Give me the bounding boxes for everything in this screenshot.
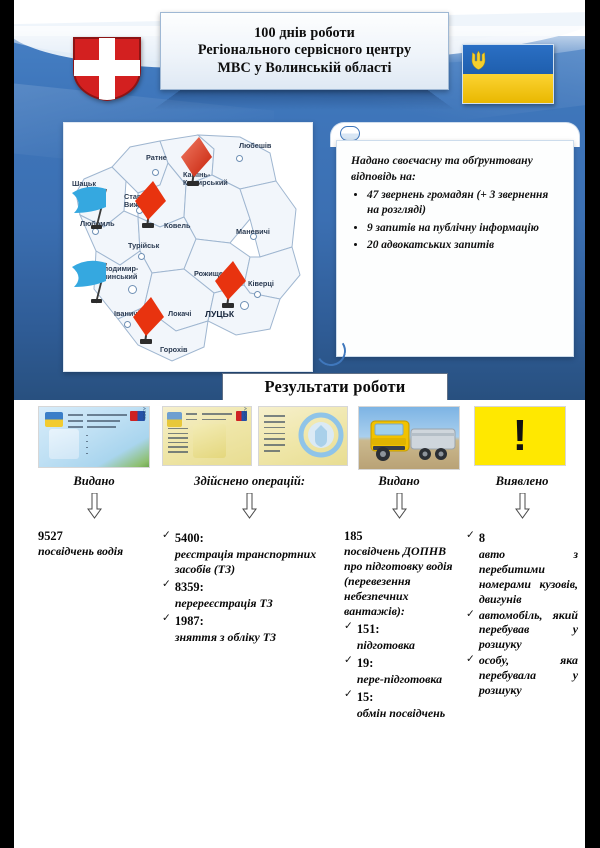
map-marker-red-kamin-kashyrskyi[interactable] — [168, 131, 214, 193]
ukraine-flag-icon — [462, 44, 554, 104]
driver-license-card-icon: ЗРАЗОК — [38, 406, 150, 468]
column-4-item-0-number: 8 — [479, 531, 485, 545]
column-2-item-1-number: 8359: — [175, 580, 204, 594]
slide-title-plate: 100 днів роботи Регіонального сервісного… — [160, 12, 449, 90]
title-line-2: Регіонального сервісного центру — [198, 42, 411, 59]
list-item: 9 запитів на публічну інформацію — [367, 221, 563, 237]
column-3-item-1-number: 19: — [357, 656, 374, 670]
checkmark-icon: ✓ — [344, 620, 353, 633]
map-label-manevychi: Маневичі — [236, 227, 270, 236]
list-item: ✓ 19: пере-підготовка — [344, 654, 454, 687]
column-3-number: 185 — [344, 529, 454, 544]
column-2-item-0-number: 5400: — [175, 531, 204, 545]
list-item: ✓ 8359: перереєстрація ТЗ — [162, 578, 337, 611]
vehicle-registration-card-front-icon: ЗРАЗОК — [162, 406, 252, 466]
down-arrow-icon — [87, 493, 102, 519]
column-2-header: Здійснено операцій: — [162, 474, 337, 489]
results-column-4: Виявлено ✓ 8 авто з перебитими номерами … — [466, 474, 578, 699]
column-3-item-0-text: підготовка — [357, 638, 454, 653]
column-1-number: 9527 — [38, 529, 150, 544]
results-column-1: Видано 9527 посвідчень водія — [38, 474, 150, 559]
column-4-item-0-text: авто з перебитими номерами кузовів, двиг… — [479, 547, 578, 607]
column-2-item-2-number: 1987: — [175, 614, 204, 628]
list-item: ✓ 15: обмін посвідчень — [344, 688, 454, 721]
checkmark-icon: ✓ — [162, 529, 171, 542]
checkmark-icon: ✓ — [466, 608, 475, 621]
column-3-header: Видано — [344, 474, 454, 489]
checkmark-icon: ✓ — [466, 653, 475, 666]
map-marker-blue-lyuboml[interactable] — [66, 179, 116, 235]
column-3-item-0-number: 151: — [357, 622, 380, 636]
volyn-coat-of-arms-icon — [72, 36, 142, 102]
column-2-item-1-text: перереєстрація ТЗ — [175, 596, 337, 611]
checkmark-icon: ✓ — [162, 612, 171, 625]
ua-badge-icon — [45, 412, 64, 428]
info-bubble: Надано своєчасну та обґрунтовану відпові… — [336, 140, 574, 357]
title-line-1: 100 днів роботи — [198, 25, 411, 42]
map-marker-red-kovel[interactable] — [124, 175, 168, 235]
map-label-turiysk: Турійськ — [128, 241, 159, 250]
column-2-item-0-text: реєстрація транспортних засобів (ТЗ) — [175, 547, 337, 577]
checkmark-icon: ✓ — [466, 529, 475, 542]
checkmark-icon: ✓ — [344, 688, 353, 701]
info-bubble-list: 47 звернень громадян (+ 3 звернення на р… — [351, 188, 563, 254]
results-banner: Результати роботи — [222, 373, 448, 401]
down-arrow-icon — [515, 493, 530, 519]
column-3-text: посвідчень ДОПНВ про підготовку водія (п… — [344, 544, 454, 618]
map-marker-blue-volodymyr[interactable] — [66, 253, 116, 309]
checkmark-icon: ✓ — [162, 578, 171, 591]
vehicle-registration-card-back-icon — [258, 406, 348, 466]
column-2-item-2-text: зняття з обліку ТЗ — [175, 630, 337, 645]
tryzub-icon — [470, 50, 487, 70]
list-item: ✓ особу, яка перебувала у розшуку — [466, 653, 578, 698]
column-3-item-2-number: 15: — [357, 690, 374, 704]
presentation-slide: 100 днів роботи Регіонального сервісного… — [0, 0, 600, 848]
city-dot-lyubeshiv — [236, 155, 243, 162]
column-4-item-1-text: автомобіль, який перебував у розшуку — [479, 608, 578, 653]
list-item: 47 звернень громадян (+ 3 звернення на р… — [367, 188, 563, 219]
warning-exclamation-sign-icon: ! — [474, 406, 566, 466]
column-3-item-1-text: пере-підготовка — [357, 672, 454, 687]
city-dot-turiysk — [138, 253, 145, 260]
card-sample-text: ЗРАЗОК — [142, 406, 147, 420]
map-marker-red-horokhiv[interactable] — [122, 291, 166, 351]
list-item: ✓ автомобіль, який перебував у розшуку — [466, 608, 578, 653]
down-arrow-icon — [242, 493, 257, 519]
map-label-lyubeshiv: Любешів — [239, 141, 271, 150]
list-item: ✓ 1987: зняття з обліку ТЗ — [162, 612, 337, 645]
column-4-item-2-text: особу, яка перебувала у розшуку — [479, 653, 578, 698]
list-item: ✓ 5400: реєстрація транспортних засобів … — [162, 529, 337, 577]
column-1-text: посвідчень водія — [38, 544, 150, 559]
results-thumbnail-row: ЗРАЗОК ЗРАЗОК — [14, 406, 585, 472]
cargo-truck-icon — [358, 406, 460, 470]
title-line-3: МВС у Волинській області — [198, 60, 411, 77]
column-3-item-2-text: обмін посвідчень — [357, 706, 454, 721]
info-bubble-lead: Надано своєчасну та обґрунтовану відпові… — [351, 153, 563, 185]
column-1-header: Видано — [38, 474, 150, 489]
map-marker-red-lutsk[interactable] — [204, 255, 248, 315]
map-label-ratne: Ратне — [146, 153, 167, 162]
city-dot-kivertsi — [254, 291, 261, 298]
info-bubble-accent-icon — [340, 126, 360, 141]
list-item: 20 адвокатських запитів — [367, 238, 563, 254]
map-label-lokachi: Локачі — [168, 309, 191, 318]
map-label-kivertsi: Ківерці — [248, 279, 274, 288]
column-4-header: Виявлено — [466, 474, 578, 489]
down-arrow-icon — [392, 493, 407, 519]
title-plate-shadow — [152, 90, 455, 111]
results-column-2: Здійснено операцій: ✓ 5400: реєстрація т… — [162, 474, 337, 646]
results-banner-label: Результати роботи — [264, 377, 405, 397]
results-column-3: Видано 185 посвідчень ДОПНВ про підготов… — [344, 474, 454, 722]
results-panel: ЗРАЗОК ЗРАЗОК — [14, 400, 585, 848]
volyn-region-map[interactable]: Любешів Ратне Камінь-Каширський Шацьк Ст… — [63, 122, 313, 372]
checkmark-icon: ✓ — [344, 654, 353, 667]
list-item: ✓ 8 авто з перебитими номерами кузовів, … — [466, 529, 578, 607]
list-item: ✓ 151: підготовка — [344, 620, 454, 653]
